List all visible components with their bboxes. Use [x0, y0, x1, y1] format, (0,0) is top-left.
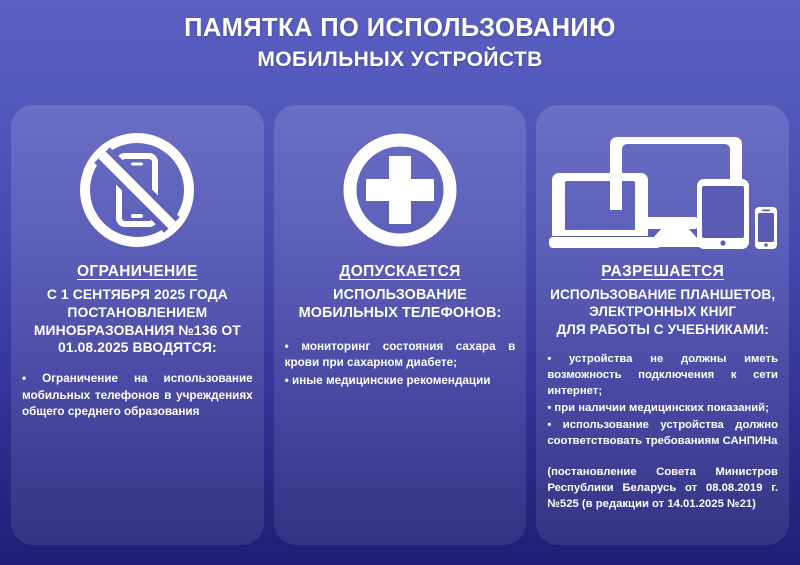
card-heading: ОГРАНИЧЕНИЕ С 1 СЕНТЯБРЯ 2025 ГОДА ПОСТА… — [22, 263, 253, 357]
card-body: • Ограничение на использование мобильных… — [22, 371, 253, 422]
card-heading-line: ИСПОЛЬЗОВАНИЕ ПЛАНШЕТОВ, — [547, 286, 778, 303]
card-allowed: ДОПУСКАЕТСЯ ИСПОЛЬЗОВАНИЕ МОБИЛЬНЫХ ТЕЛЕ… — [274, 105, 527, 545]
bullet-item: • при наличии медицинских показаний; — [547, 400, 778, 416]
card-heading-line: ПОСТАНОВЛЕНИЕМ — [22, 304, 253, 322]
bullet-item: • использование устройства должно соотве… — [547, 417, 778, 449]
card-heading: РАЗРЕШАЕТСЯ ИСПОЛЬЗОВАНИЕ ПЛАНШЕТОВ, ЭЛЕ… — [547, 263, 778, 338]
card-heading-line: МИНОБРАЗОВАНИЯ №136 ОТ — [22, 322, 253, 340]
poster-title-sub: МОБИЛЬНЫХ УСТРОЙСТВ — [0, 47, 800, 72]
no-mobile-phone-icon — [22, 119, 253, 261]
card-body: • устройства не должны иметь возможность… — [547, 351, 778, 450]
card-heading-line: ДЛЯ РАБОТЫ С УЧЕБНИКАМИ: — [547, 321, 778, 338]
bullet-item: • иные медицинские рекомендации — [285, 373, 516, 390]
card-heading-lead: ДОПУСКАЕТСЯ — [339, 263, 460, 281]
bullet-item: • устройства не должны иметь возможность… — [547, 351, 778, 399]
card-heading-lines: С 1 СЕНТЯБРЯ 2025 ГОДА ПОСТАНОВЛЕНИЕМ МИ… — [22, 286, 253, 357]
card-heading-lines: ИСПОЛЬЗОВАНИЕ МОБИЛЬНЫХ ТЕЛЕФОНОВ: — [285, 286, 516, 323]
card-heading-line: 01.08.2025 ВВОДЯТСЯ: — [22, 339, 253, 357]
card-permitted: РАЗРЕШАЕТСЯ ИСПОЛЬЗОВАНИЕ ПЛАНШЕТОВ, ЭЛЕ… — [536, 105, 789, 545]
card-heading-line: МОБИЛЬНЫХ ТЕЛЕФОНОВ: — [285, 304, 516, 322]
bullet-item: • мониторинг состояния сахара в крови пр… — [285, 339, 516, 372]
card-heading-line: ЭЛЕКТРОННЫХ КНИГ — [547, 303, 778, 320]
card-body: • мониторинг состояния сахара в крови пр… — [285, 339, 516, 391]
bullet-item: • Ограничение на использование мобильных… — [22, 371, 253, 421]
card-heading-line: С 1 СЕНТЯБРЯ 2025 ГОДА — [22, 286, 253, 304]
infographic-poster: ПАМЯТКА ПО ИСПОЛЬЗОВАНИЮ МОБИЛЬНЫХ УСТРО… — [0, 0, 800, 565]
card-heading-lines: ИСПОЛЬЗОВАНИЕ ПЛАНШЕТОВ, ЭЛЕКТРОННЫХ КНИ… — [547, 286, 778, 338]
cards-row: ОГРАНИЧЕНИЕ С 1 СЕНТЯБРЯ 2025 ГОДА ПОСТА… — [11, 105, 789, 545]
poster-header: ПАМЯТКА ПО ИСПОЛЬЗОВАНИЮ МОБИЛЬНЫХ УСТРО… — [0, 0, 800, 72]
card-restriction: ОГРАНИЧЕНИЕ С 1 СЕНТЯБРЯ 2025 ГОДА ПОСТА… — [11, 105, 264, 545]
legal-note: (постановление Совета Министров Республи… — [547, 464, 778, 512]
card-heading-lead: ОГРАНИЧЕНИЕ — [77, 263, 198, 281]
card-heading-lead: РАЗРЕШАЕТСЯ — [601, 263, 724, 281]
card-heading: ДОПУСКАЕТСЯ ИСПОЛЬЗОВАНИЕ МОБИЛЬНЫХ ТЕЛЕ… — [285, 263, 516, 323]
medical-cross-icon — [285, 119, 516, 261]
devices-icon — [547, 119, 778, 261]
poster-title-main: ПАМЯТКА ПО ИСПОЛЬЗОВАНИЮ — [0, 14, 800, 43]
card-heading-line: ИСПОЛЬЗОВАНИЕ — [285, 286, 516, 304]
